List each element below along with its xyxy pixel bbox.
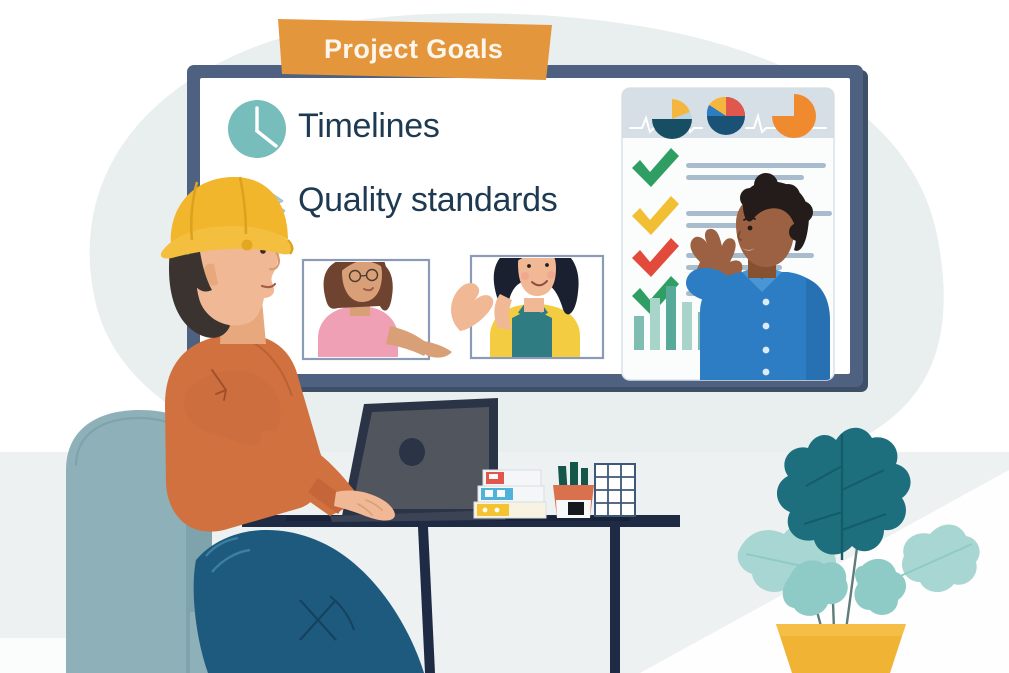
wire-organizer — [595, 464, 635, 516]
bullet-label-quality: Quality standards — [298, 181, 557, 220]
scene-artwork — [0, 0, 1009, 673]
pen-cup — [553, 462, 594, 518]
clock-icon — [228, 100, 286, 158]
laptop-logo — [399, 438, 425, 466]
bullet-label-timelines: Timelines — [298, 107, 440, 146]
book-stack — [474, 470, 546, 518]
project-goals-banner — [278, 19, 552, 80]
participant2-overalls — [512, 312, 552, 358]
illustration-canvas: Project Goals Timelines Quality standard… — [0, 0, 1009, 673]
pie-chart-2 — [707, 97, 745, 135]
report-panel — [622, 88, 834, 380]
